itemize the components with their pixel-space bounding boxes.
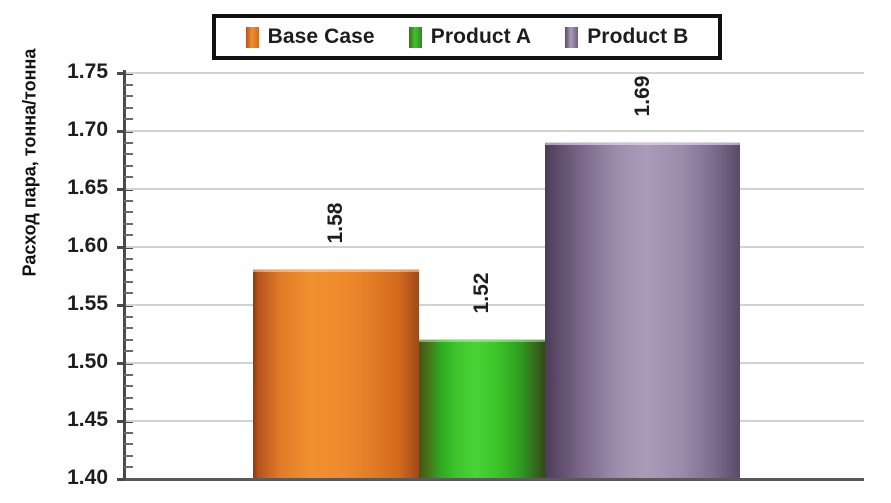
y-tick-label: 1.70	[36, 118, 108, 142]
y-tick-label: 1.40	[36, 466, 108, 490]
bar-value-label-base-case: 1.58	[324, 203, 348, 244]
plot-area: 1.58 1.52 1.69	[126, 72, 864, 478]
bar-value-label-product-b: 1.69	[631, 75, 655, 116]
y-tick-label: 1.45	[36, 408, 108, 432]
bar-chart: Base Case Product A Product B Расход пар…	[0, 0, 891, 503]
gridline	[126, 246, 864, 248]
chart-legend: Base Case Product A Product B	[212, 14, 722, 60]
gridline	[126, 72, 864, 74]
bar-value-label-product-a: 1.52	[470, 272, 494, 313]
legend-label-product-b: Product B	[587, 25, 688, 49]
legend-label-base-case: Base Case	[268, 25, 375, 49]
gridline	[126, 304, 864, 306]
legend-swatch-icon-base-case	[246, 27, 259, 48]
gridline	[126, 130, 864, 132]
legend-entry-base-case: Base Case	[246, 25, 375, 49]
bar-product-a: 1.52	[419, 339, 545, 478]
y-tick-label: 1.60	[36, 234, 108, 258]
legend-swatch-icon-product-b	[565, 27, 578, 48]
legend-swatch-icon-product-a	[409, 27, 422, 48]
gridline	[126, 188, 864, 190]
legend-label-product-a: Product A	[431, 25, 531, 49]
gridline	[126, 478, 864, 481]
y-tick-label: 1.50	[36, 350, 108, 374]
bar-body-product-b	[545, 142, 740, 478]
bar-product-b: 1.69	[545, 142, 740, 478]
bar-body-base-case	[253, 269, 419, 478]
y-tick-label: 1.65	[36, 176, 108, 200]
bar-base-case: 1.58	[253, 269, 419, 478]
bar-body-product-a	[419, 339, 545, 478]
y-tick-label: 1.55	[36, 292, 108, 316]
legend-entry-product-a: Product A	[409, 25, 531, 49]
legend-entry-product-b: Product B	[565, 25, 688, 49]
y-tick-label: 1.75	[36, 60, 108, 84]
